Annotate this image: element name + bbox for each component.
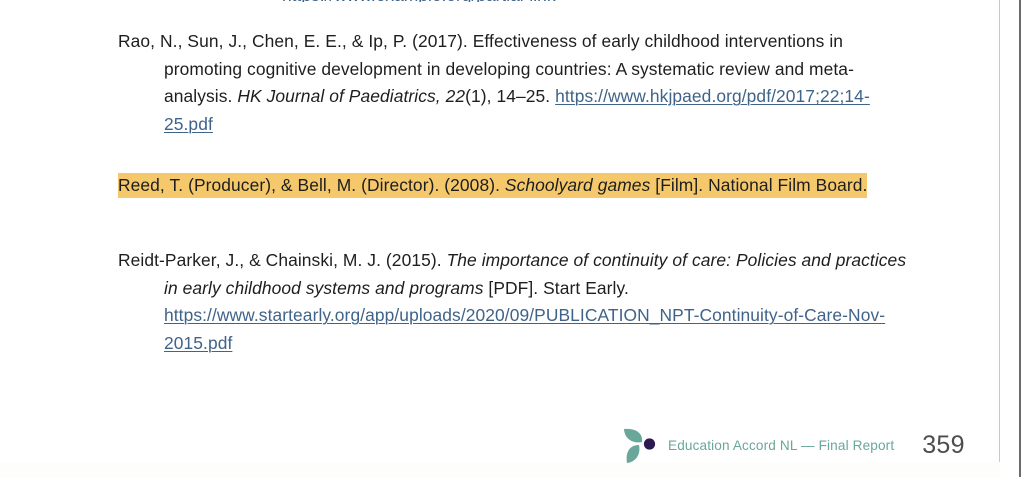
- reference-entry-rao-2017: Rao, N., Sun, J., Chen, E. E., & Ip, P. …: [118, 28, 908, 138]
- document-page-screenshot: https://www.example.org/partial-link Rao…: [0, 0, 1024, 477]
- ref3-link[interactable]: https://www.startearly.org/app/uploads/2…: [164, 305, 885, 353]
- page-sheet: https://www.example.org/partial-link Rao…: [0, 0, 1000, 477]
- ref1-seg-journal-italic: HK Journal of Paediatrics, 22: [237, 86, 465, 106]
- viewport-right-edge: [1019, 0, 1021, 477]
- leaf-sprout-icon: [620, 423, 660, 467]
- reference-entry-reidt-parker-2015: Reidt-Parker, J., & Chainski, M. J. (201…: [118, 247, 908, 357]
- page-number: 359: [922, 431, 964, 460]
- ref3-seg-medium-publisher: [PDF]. Start Early.: [483, 278, 628, 298]
- ref2-seg-medium-publisher: [Film]. National Film Board.: [650, 173, 867, 198]
- ref2-seg-title-italic: Schoolyard games: [505, 173, 650, 198]
- ref2-seg-authors: Reed, T. (Producer), & Bell, M. (Directo…: [118, 173, 505, 198]
- reference-entry-reed-bell-2008: Reed, T. (Producer), & Bell, M. (Directo…: [118, 172, 867, 200]
- page-footer: Education Accord NL — Final Report 359: [620, 420, 965, 470]
- clipped-top-reference: https://www.example.org/partial-link: [282, 0, 682, 2]
- clipped-link[interactable]: https://www.example.org/partial-link: [282, 0, 556, 2]
- footer-report-label: Education Accord NL — Final Report: [668, 438, 894, 453]
- ref3-seg-authors: Reidt-Parker, J., & Chainski, M. J. (201…: [118, 250, 447, 270]
- ref1-seg-issue-pages: (1), 14–25.: [465, 86, 555, 106]
